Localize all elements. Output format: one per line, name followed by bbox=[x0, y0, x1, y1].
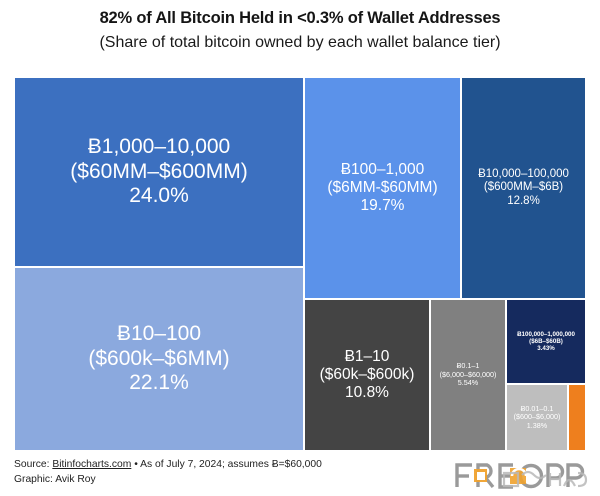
treemap-tile-tier-10-100[interactable]: Ƀ10–100 ($600k–$6MM) 22.1% bbox=[14, 267, 304, 451]
tile-tier-label: Ƀ100,000–1,000,000 bbox=[517, 331, 575, 338]
tile-usd-label: ($600k–$6MM) bbox=[88, 347, 229, 371]
source-link[interactable]: Bitinfocharts.com bbox=[52, 459, 131, 470]
tile-pct-label: 5.54% bbox=[458, 379, 478, 387]
tile-tier-label: Ƀ10,000–100,000 bbox=[478, 168, 569, 181]
treemap-tile-tier-0p01-0p1[interactable]: Ƀ0.01–0.1 ($600–$6,000) 1.38% bbox=[506, 384, 568, 451]
tile-tier-label: Ƀ1,000–10,000 bbox=[88, 135, 230, 159]
footer-source: Source: Bitinfocharts.com • As of July 7… bbox=[14, 458, 322, 488]
treemap-tile-tier-100-1000[interactable]: Ƀ100–1,000 ($6MM-$60MM) 19.7% bbox=[304, 77, 461, 299]
tile-pct-label: 22.1% bbox=[129, 371, 189, 395]
treemap-tile-tier-1-10[interactable]: Ƀ1–10 ($60k–$600k) 10.8% bbox=[304, 299, 430, 451]
tile-usd-label: ($6MM-$60MM) bbox=[327, 179, 437, 197]
tile-usd-pct-label: ($6B–$60B) bbox=[529, 338, 563, 345]
treemap-tile-tier-1000-10000[interactable]: Ƀ1,000–10,000 ($60MM–$600MM) 24.0% bbox=[14, 77, 304, 267]
treemap-tile-tier-10000-100000[interactable]: Ƀ10,000–100,000 ($600MM–$6B) 12.8% bbox=[461, 77, 586, 299]
tile-pct-label: 1.38% bbox=[527, 422, 547, 430]
freopp-logo bbox=[452, 459, 592, 493]
tile-usd-label: ($60MM–$600MM) bbox=[70, 160, 247, 184]
page-title: 82% of All Bitcoin Held in <0.3% of Wall… bbox=[0, 9, 600, 28]
treemap-tile-tier-100000-1000000[interactable]: Ƀ100,000–1,000,000 ($6B–$60B) 3.43% bbox=[506, 299, 586, 384]
tile-usd-label: ($600MM–$6B) bbox=[484, 181, 563, 194]
tile-pct-label: 24.0% bbox=[129, 184, 189, 208]
treemap-tile-tier-smallest[interactable] bbox=[568, 384, 586, 451]
freopp-logo-mark bbox=[452, 459, 592, 493]
source-prefix: Source: bbox=[14, 459, 52, 470]
tile-pct-label: 3.43% bbox=[537, 345, 555, 352]
source-suffix: • As of July 7, 2024; assumes Ƀ=$60,000 bbox=[131, 459, 322, 470]
treemap-tile-tier-0p1-1[interactable]: Ƀ0.1–1 ($6,000–$60,000) 5.54% bbox=[430, 299, 506, 451]
tile-pct-label: 19.7% bbox=[361, 197, 405, 215]
tile-tier-label: Ƀ100–1,000 bbox=[341, 161, 425, 179]
tile-tier-label: Ƀ1–10 bbox=[345, 348, 390, 366]
tile-usd-label: ($60k–$600k) bbox=[320, 366, 415, 384]
tile-pct-label: 10.8% bbox=[345, 384, 389, 402]
tile-pct-label: 12.8% bbox=[507, 195, 540, 208]
page-subtitle: (Share of total bitcoin owned by each wa… bbox=[0, 34, 600, 52]
tile-tier-label: Ƀ10–100 bbox=[117, 322, 201, 346]
graphic-credit: Graphic: Avik Roy bbox=[14, 473, 322, 488]
treemap-chart: Ƀ1,000–10,000 ($60MM–$600MM) 24.0% Ƀ10–1… bbox=[14, 77, 586, 451]
